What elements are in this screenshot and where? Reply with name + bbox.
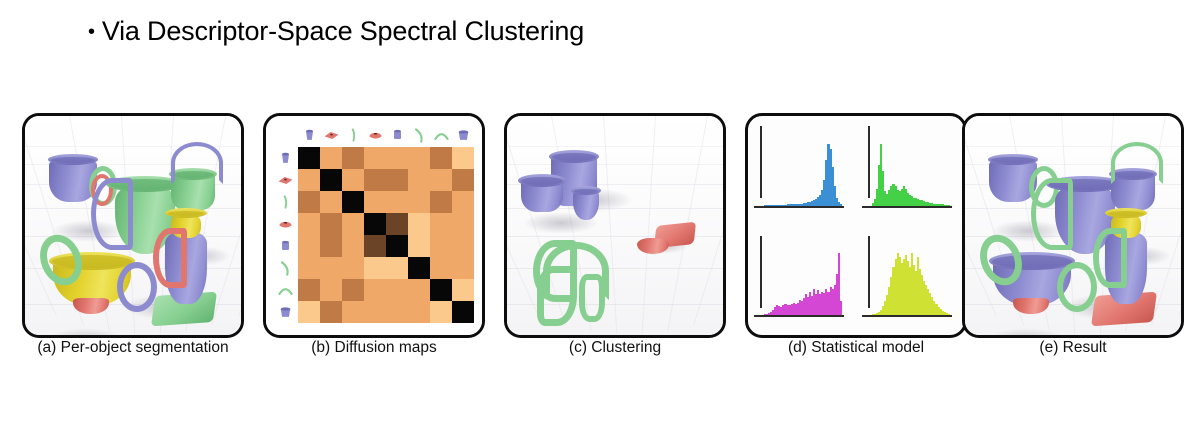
matrix-cell xyxy=(320,169,342,191)
matrix-cell xyxy=(430,235,452,257)
matrix-cell xyxy=(298,301,320,323)
matrix-cell xyxy=(408,169,430,191)
matrix-cell xyxy=(364,235,386,257)
matrix-cell xyxy=(408,301,430,323)
matrix-cell xyxy=(430,147,452,169)
matrix-cell xyxy=(320,147,342,169)
histogram-x-axis xyxy=(862,206,952,208)
cluster-base-foot xyxy=(637,238,669,254)
matrix-cell xyxy=(386,213,408,235)
matrix-cell xyxy=(298,169,320,191)
matrix-cell xyxy=(452,191,474,213)
scene-3d-clustering xyxy=(507,116,723,335)
matrix-cell xyxy=(430,191,452,213)
cluster-purple-small-vase xyxy=(573,186,599,220)
matrix-cell xyxy=(298,147,320,169)
vessel-opening xyxy=(51,157,95,163)
matrix-cell xyxy=(408,213,430,235)
matrix-cell xyxy=(452,257,474,279)
amphora-handle xyxy=(91,178,133,250)
matrix-cell xyxy=(342,213,364,235)
matrix-cell xyxy=(342,301,364,323)
kylix-handle-right xyxy=(117,262,157,312)
matrix-cell xyxy=(342,257,364,279)
matrix-cell xyxy=(320,235,342,257)
matrix-cell xyxy=(364,279,386,301)
result-bucket-handle xyxy=(1111,142,1163,184)
scene-3d-result xyxy=(965,116,1181,335)
histogram-bar xyxy=(948,314,950,315)
thumb-red-bowl xyxy=(364,123,386,147)
vase-handle xyxy=(153,228,187,288)
panel-c-frame xyxy=(504,113,726,338)
vessel-opening xyxy=(991,157,1035,163)
matrix-cell xyxy=(364,191,386,213)
matrix-cell xyxy=(408,257,430,279)
thumb-green-handle-curved xyxy=(272,257,298,279)
result-amphora-handle xyxy=(1031,178,1073,250)
matrix-cell xyxy=(386,257,408,279)
matrix-cell xyxy=(320,301,342,323)
matrix-cell xyxy=(430,257,452,279)
matrix-cell xyxy=(452,147,474,169)
cluster-purple-bowl xyxy=(521,174,563,212)
histogram-y-axis xyxy=(868,126,870,198)
matrix-cell xyxy=(364,301,386,323)
panel-b-frame xyxy=(263,113,485,338)
figure-row: (a) Per-object segmentation (b) Diffusio… xyxy=(0,113,1195,363)
slide-title-text: Via Descriptor-Space Spectral Clustering xyxy=(102,16,584,46)
thumb-red-bowl xyxy=(272,213,298,235)
vessel-opening xyxy=(574,189,598,193)
kylix-foot xyxy=(73,298,109,314)
panel-d-caption: (d) Statistical model xyxy=(745,339,967,357)
matrix-cell xyxy=(364,147,386,169)
result-vase-handle xyxy=(1093,228,1127,288)
vessel-body xyxy=(73,298,109,314)
slide-title: •Via Descriptor-Space Spectral Clusterin… xyxy=(88,16,584,47)
thumb-green-handle-arc xyxy=(430,123,452,147)
scene-3d-segmentation xyxy=(25,116,241,335)
bullet-icon: • xyxy=(88,21,95,43)
panel-e-caption: (e) Result xyxy=(962,339,1184,357)
panel-b-caption: (b) Diffusion maps xyxy=(263,339,485,357)
thumb-purple-cup-2 xyxy=(272,235,298,257)
matrix-cell xyxy=(320,279,342,301)
matrix-cell xyxy=(386,301,408,323)
panel-e-frame xyxy=(962,113,1184,338)
cluster-handle-c xyxy=(537,266,577,326)
panel-diffusion-maps[interactable]: (b) Diffusion maps xyxy=(263,113,485,338)
thumb-purple-cup xyxy=(272,147,298,169)
matrix-cell xyxy=(452,213,474,235)
matrix-cell xyxy=(364,257,386,279)
matrix-cell xyxy=(342,279,364,301)
vessel-opening xyxy=(1108,211,1144,216)
cluster-handle-d xyxy=(579,274,605,322)
vessel-opening xyxy=(521,177,563,185)
histogram-x-axis xyxy=(862,315,952,317)
panel-a-frame xyxy=(22,113,244,338)
histogram-bars xyxy=(872,253,950,315)
matrix-cell xyxy=(408,147,430,169)
histogram-bars xyxy=(764,253,842,315)
matrix-cell xyxy=(342,147,364,169)
panel-per-object-segmentation[interactable]: (a) Per-object segmentation xyxy=(22,113,244,338)
matrix-cell xyxy=(320,213,342,235)
matrix-cell xyxy=(342,169,364,191)
matrix-cell xyxy=(386,191,408,213)
thumb-green-stem xyxy=(272,191,298,213)
floor-line-vertical xyxy=(603,116,617,335)
result-kylix-handle-right xyxy=(1057,262,1097,312)
bucket-handle xyxy=(171,142,223,184)
matrix-cell xyxy=(364,169,386,191)
matrix-cell xyxy=(452,301,474,323)
histogram-descriptor-histogram-blue xyxy=(748,116,856,226)
histogram-bar xyxy=(840,301,842,315)
thumb-purple-bucket xyxy=(452,123,474,147)
histogram-y-axis xyxy=(760,236,762,308)
thumb-purple-cup-2 xyxy=(386,123,408,147)
thumb-green-handle-curved xyxy=(408,123,430,147)
affinity-matrix xyxy=(266,116,482,335)
matrix-cell xyxy=(452,235,474,257)
vessel-body xyxy=(637,238,669,254)
matrix-cell xyxy=(298,279,320,301)
panel-statistical-model[interactable]: (d) Statistical model xyxy=(745,113,967,338)
matrix-cells xyxy=(298,147,474,323)
thumb-purple-bucket xyxy=(272,301,298,323)
matrix-cell xyxy=(298,235,320,257)
vessel-opening xyxy=(168,211,204,216)
matrix-cell xyxy=(408,279,430,301)
histogram-x-axis xyxy=(754,315,844,317)
matrix-cell xyxy=(298,213,320,235)
thumb-green-handle-arc xyxy=(272,279,298,301)
panel-d-frame xyxy=(745,113,967,338)
matrix-cell xyxy=(320,191,342,213)
matrix-row-thumbnails xyxy=(272,147,298,323)
matrix-cell xyxy=(342,191,364,213)
histogram-bar xyxy=(840,204,842,205)
matrix-cell xyxy=(430,169,452,191)
histogram-descriptor-histogram-magenta xyxy=(748,226,856,336)
panel-clustering[interactable]: (c) Clustering xyxy=(504,113,726,338)
matrix-cell xyxy=(452,169,474,191)
floor-line-vertical xyxy=(642,116,656,335)
matrix-cell xyxy=(298,191,320,213)
vessel-opening xyxy=(552,153,596,161)
thumb-red-plate xyxy=(272,169,298,191)
matrix-cell xyxy=(386,235,408,257)
matrix-cell xyxy=(386,279,408,301)
histogram-bar xyxy=(948,205,950,206)
thumb-green-stem xyxy=(342,123,364,147)
matrix-cell xyxy=(430,213,452,235)
vessel-body xyxy=(1013,298,1049,314)
histogram-y-axis xyxy=(868,236,870,308)
panel-c-caption: (c) Clustering xyxy=(504,339,726,357)
matrix-cell xyxy=(342,235,364,257)
matrix-cell xyxy=(430,301,452,323)
object-shadow xyxy=(45,328,127,338)
matrix-cell xyxy=(430,279,452,301)
thumb-purple-cup xyxy=(298,123,320,147)
matrix-cell xyxy=(386,147,408,169)
matrix-cell xyxy=(320,257,342,279)
histogram-descriptor-histogram-green xyxy=(856,116,964,226)
matrix-cell xyxy=(386,169,408,191)
matrix-cell xyxy=(298,257,320,279)
histogram-bars xyxy=(872,144,950,206)
floor-line-horizontal xyxy=(504,164,726,165)
floor-line-horizontal xyxy=(504,146,726,147)
matrix-cell xyxy=(452,279,474,301)
floor-line-vertical xyxy=(693,116,726,325)
thumb-red-plate xyxy=(320,123,342,147)
result-kylix-foot xyxy=(1013,298,1049,314)
histogram-x-axis xyxy=(754,206,844,208)
histogram-descriptor-histogram-yellow-green xyxy=(856,226,964,336)
histogram-y-axis xyxy=(760,126,762,198)
matrix-cell xyxy=(364,213,386,235)
panel-result[interactable]: (e) Result xyxy=(962,113,1184,338)
matrix-cell xyxy=(408,191,430,213)
matrix-cell xyxy=(408,235,430,257)
matrix-column-thumbnails xyxy=(298,123,474,147)
histogram-bars xyxy=(764,144,842,206)
histogram-grid xyxy=(748,116,964,335)
object-shadow xyxy=(985,328,1067,338)
panel-a-caption: (a) Per-object segmentation xyxy=(22,339,244,357)
